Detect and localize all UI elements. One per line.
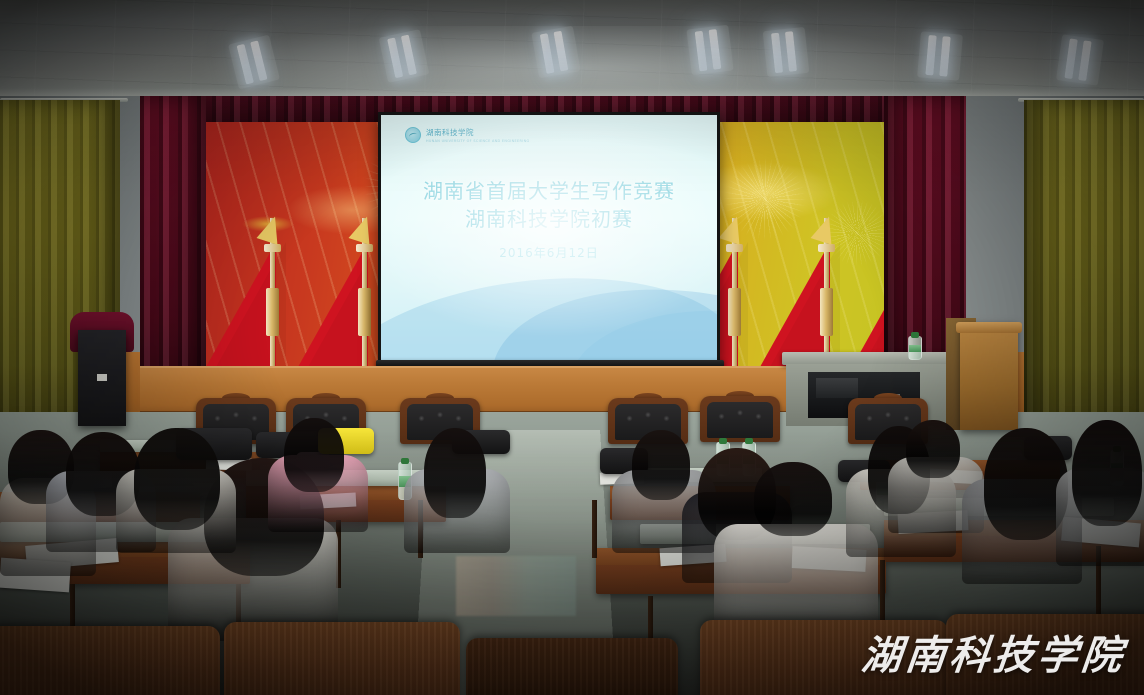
stage-curtain-left[interactable] [140, 96, 206, 396]
student-hair [284, 418, 344, 492]
desk-leg [592, 500, 597, 558]
student-long-hair-white [116, 428, 236, 548]
foreground-seat-back[interactable] [466, 638, 678, 695]
flag-collar [356, 244, 373, 252]
speaker-badge [97, 374, 107, 381]
university-emblem-icon [405, 127, 421, 143]
water-bottle[interactable] [908, 336, 922, 360]
foreground-seat-back[interactable] [0, 626, 220, 695]
podium-top [956, 322, 1022, 333]
student-hair [424, 428, 486, 518]
bottle-cap [745, 438, 753, 444]
slide-logo: 湖南科技学院 HUNAN UNIVERSITY OF SCIENCE AND E… [405, 127, 529, 143]
wooden-podium[interactable] [960, 322, 1018, 430]
ceiling-lamp [537, 30, 575, 75]
student-hair [1072, 420, 1142, 526]
flag-collar [726, 244, 743, 252]
ceiling-lamp [922, 35, 957, 78]
slide-date: 2016年6月12日 [381, 244, 717, 261]
student-far-right [1056, 420, 1144, 560]
flag-spear-tip-icon [257, 213, 286, 245]
right-window-curtain[interactable] [1024, 100, 1144, 430]
flag-pole-grip [820, 288, 833, 336]
foreground-seat-back[interactable] [224, 622, 460, 695]
floor-tile-patch [456, 556, 576, 616]
flag-pole-grip [358, 288, 371, 336]
ceiling-lamp [692, 28, 729, 72]
projected-slide: 湖南科技学院 HUNAN UNIVERSITY OF SCIENCE AND E… [381, 115, 717, 361]
student-hair [134, 428, 220, 530]
ceiling-lamp [234, 39, 275, 86]
slide-logo-text: 湖南科技学院 [426, 127, 529, 138]
console-inner-equipment [816, 378, 858, 398]
pa-speaker [78, 330, 126, 426]
flag-pole-grip [728, 288, 741, 336]
student-grey-knit [404, 428, 510, 548]
chair-tufted-pad [707, 402, 773, 438]
auditorium-photo: 湖南科技学院 HUNAN UNIVERSITY OF SCIENCE AND E… [0, 0, 1144, 695]
slide-text-block: 湖南省首届大学生写作竞赛 湖南科技学院初赛 2016年6月12日 [381, 177, 717, 261]
flag-spear-tip-icon [349, 213, 378, 245]
student-pink-top [268, 418, 368, 528]
ceiling-lamp [384, 33, 424, 79]
student-hair [906, 420, 960, 478]
slide-title-line-2: 湖南科技学院初赛 [381, 205, 717, 233]
ceiling-lamp [1061, 38, 1098, 82]
photo-watermark: 湖南科技学院 [859, 623, 1129, 681]
bottle-cap [719, 438, 727, 444]
slide-logo-subtext: HUNAN UNIVERSITY OF SCIENCE AND ENGINEER… [426, 139, 529, 143]
flag-pole-grip [266, 288, 279, 336]
projection-screen[interactable]: 湖南科技学院 HUNAN UNIVERSITY OF SCIENCE AND E… [378, 112, 720, 364]
flag-collar [818, 244, 835, 252]
ceiling-lamp [768, 30, 804, 73]
flag-spear-tip-icon [719, 213, 748, 245]
ceiling [0, 0, 1144, 104]
flag-spear-tip-icon [811, 213, 840, 245]
flag-collar [264, 244, 281, 252]
student-hair [754, 462, 832, 536]
bottle-cap [911, 332, 919, 338]
bottle-label [909, 345, 921, 352]
slide-title-line-1: 湖南省首届大学生写作竞赛 [381, 177, 717, 205]
